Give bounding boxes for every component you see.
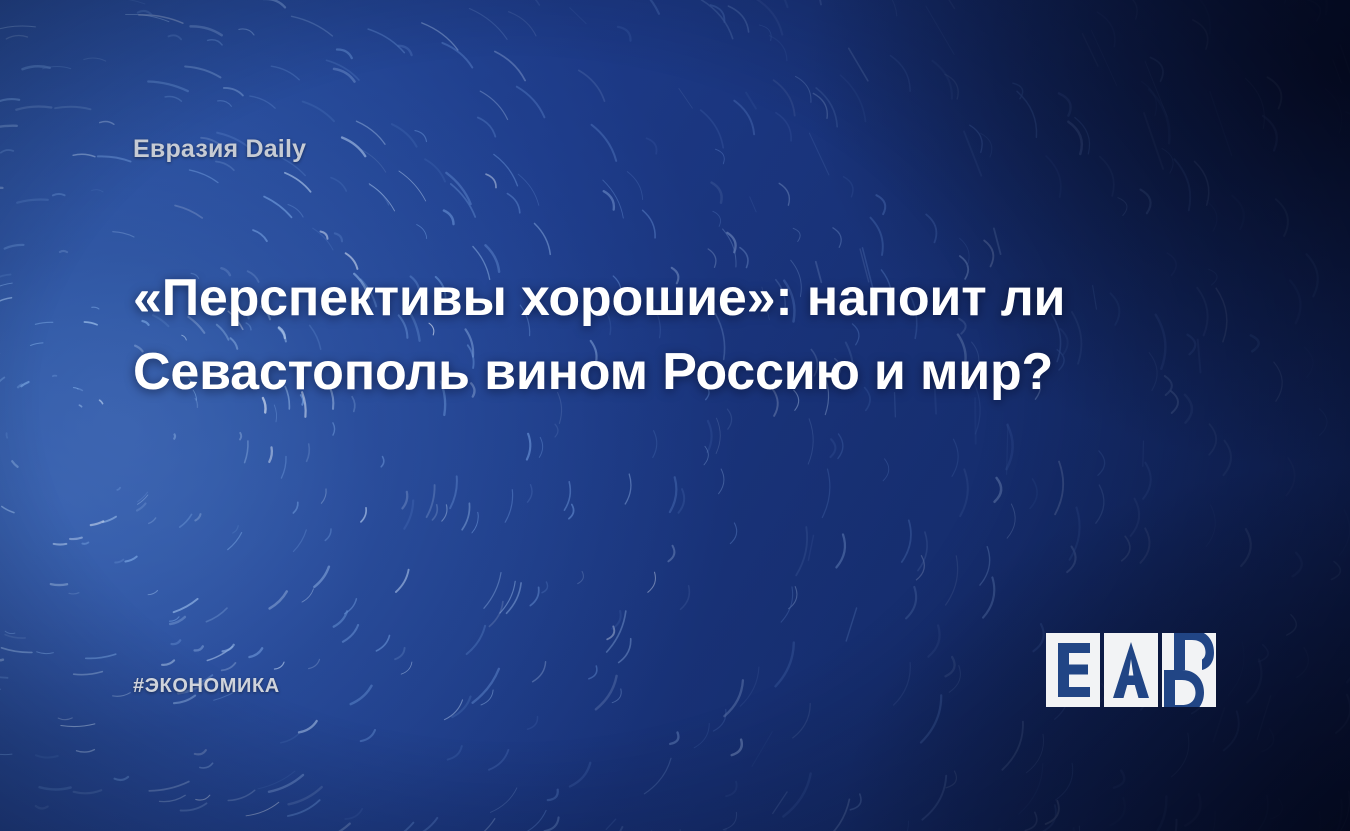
topic-tag[interactable]: #ЭКОНОМИКА <box>133 675 280 698</box>
share-card: Евразия Daily «Перспективы хорошие»: нап… <box>0 0 1350 831</box>
brand-name: Евразия Daily <box>133 135 306 164</box>
logo-tile-d <box>1162 633 1216 707</box>
logo-tile-e <box>1046 633 1100 707</box>
logo-letter-e <box>1058 643 1090 697</box>
headline: «Перспективы хорошие»: напоит ли Севасто… <box>133 262 1143 410</box>
logo-tile-a <box>1104 633 1158 707</box>
ead-logo[interactable] <box>1046 633 1222 707</box>
logo-letter-a <box>1113 642 1149 698</box>
card-content: Евразия Daily «Перспективы хорошие»: нап… <box>0 0 1350 831</box>
logo-letter-d-lower <box>1164 670 1204 707</box>
logo-letter-d-upper <box>1174 633 1214 670</box>
